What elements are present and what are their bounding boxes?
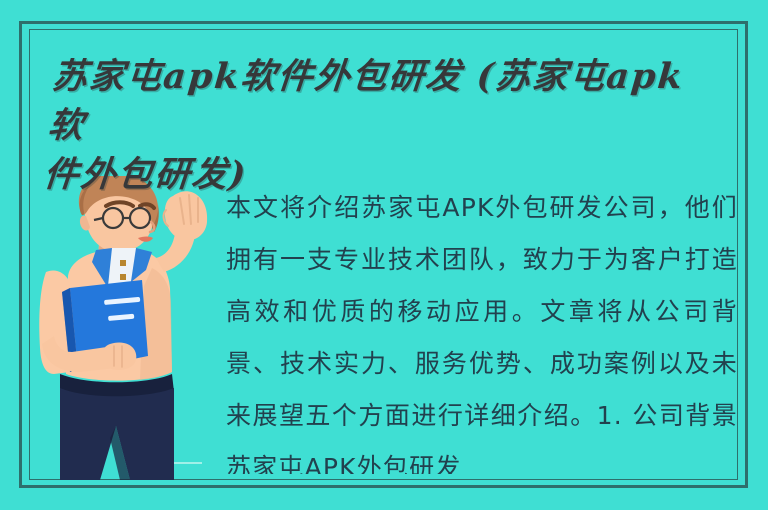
title-block: 苏家屯apk软件外包研发 (苏家屯apk软 件外包研发) (48, 52, 708, 199)
ground-highlight-line (174, 462, 202, 464)
illustration-man-waving-holding-book (34, 176, 220, 480)
article-card: 苏家屯apk软件外包研发 (苏家屯apk软 件外包研发) (0, 0, 768, 510)
illustration-svg (34, 176, 220, 480)
body-block: 本文将介绍苏家屯APK外包研发公司，他们拥有一支专业技术团队，致力于为客户打造高… (226, 182, 738, 474)
page-title: 苏家屯apk软件外包研发 (苏家屯apk软 件外包研发) (42, 52, 715, 199)
article-body: 本文将介绍苏家屯APK外包研发公司，他们拥有一支专业技术团队，致力于为客户打造高… (226, 182, 738, 474)
